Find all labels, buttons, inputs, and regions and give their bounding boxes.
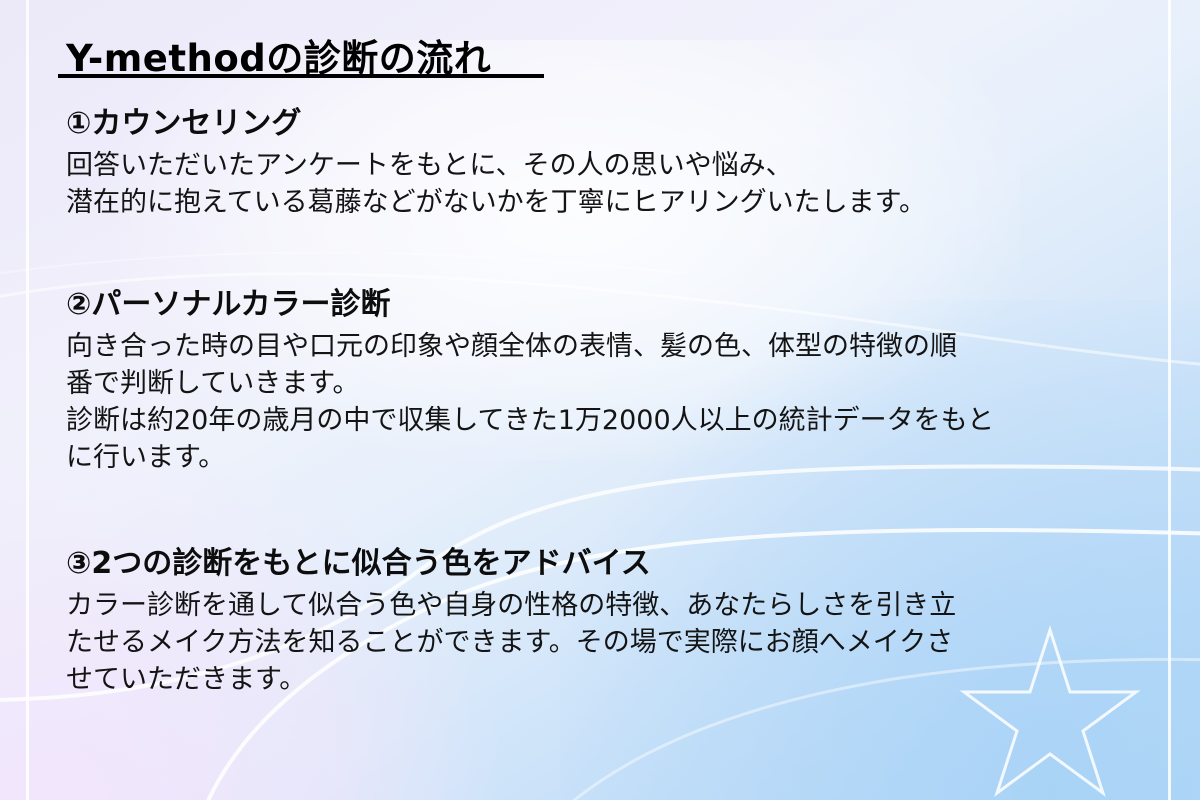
section-3-heading: ③2つの診断をもとに似合う色をアドバイス: [66, 546, 1156, 583]
section-advice: ③2つの診断をもとに似合う色をアドバイス カラー診断を通して似合う色や自身の性格…: [66, 546, 1156, 698]
section-2-line-3: 診断は約20年の歳月の中で収集してきた1万2000人以上の統計データをもと: [66, 402, 1156, 439]
section-1-line-2: 潜在的に抱えている葛藤などがないかを丁寧にヒアリングいたします。: [66, 184, 1156, 221]
section-1-heading: ①カウンセリング: [66, 106, 1156, 143]
section-2-line-2: 番で判断していきます。: [66, 365, 1156, 402]
title-underline: [58, 74, 544, 78]
section-3-line-1: カラー診断を通して似合う色や自身の性格の特徴、あなたらしさを引き立: [66, 587, 1156, 624]
section-1-line-1: 回答いただいたアンケートをもとに、その人の思いや悩み、: [66, 147, 1156, 184]
section-personal-color: ②パーソナルカラー診断 向き合った時の目や口元の印象や顔全体の表情、髪の色、体型…: [66, 287, 1156, 477]
section-3-line-2: たせるメイク方法を知ることができます。その場で実際にお顔へメイクさ: [66, 624, 1156, 661]
slide-canvas: Y-methodの診断の流れ ①カウンセリング 回答いただいたアンケートをもとに…: [0, 0, 1200, 800]
section-counseling: ①カウンセリング 回答いただいたアンケートをもとに、その人の思いや悩み、 潜在的…: [66, 106, 1156, 221]
section-1-body: 回答いただいたアンケートをもとに、その人の思いや悩み、 潜在的に抱えている葛藤な…: [66, 147, 1156, 222]
section-3-body: カラー診断を通して似合う色や自身の性格の特徴、あなたらしさを引き立 たせるメイク…: [66, 587, 1156, 699]
section-2-heading: ②パーソナルカラー診断: [66, 287, 1156, 324]
section-2-line-1: 向き合った時の目や口元の印象や顔全体の表情、髪の色、体型の特徴の順: [66, 328, 1156, 365]
section-3-line-3: せていただきます。: [66, 661, 1156, 698]
section-2-body: 向き合った時の目や口元の印象や顔全体の表情、髪の色、体型の特徴の順 番で判断して…: [66, 328, 1156, 477]
slide-content: Y-methodの診断の流れ ①カウンセリング 回答いただいたアンケートをもとに…: [0, 0, 1200, 800]
section-2-line-4: に行います。: [66, 439, 1156, 476]
